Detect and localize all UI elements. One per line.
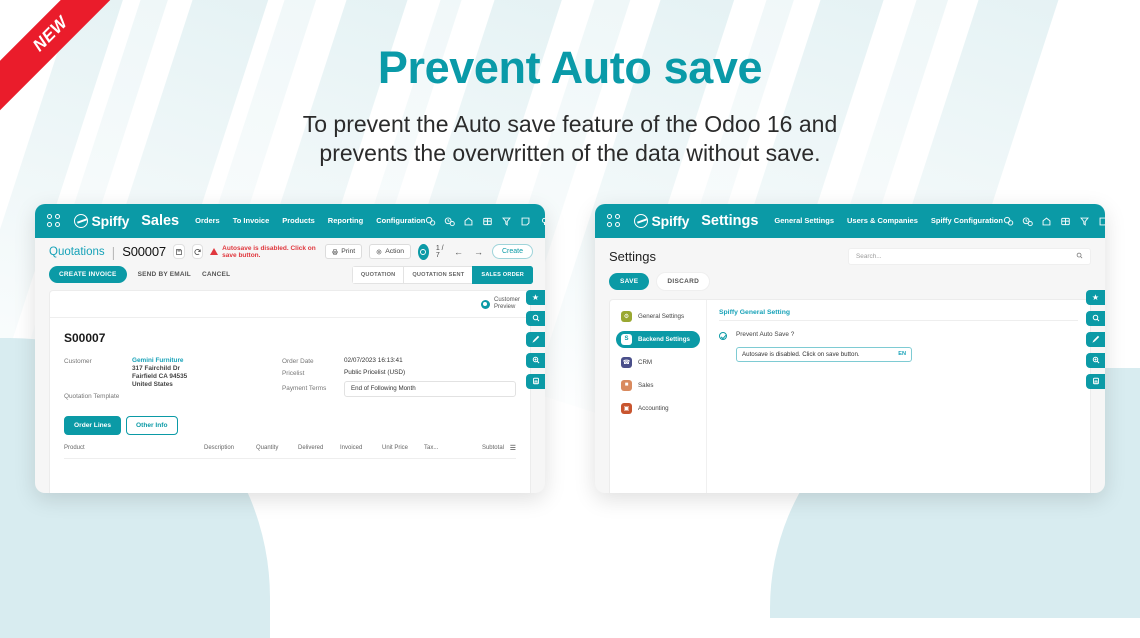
customer-preview-button[interactable]: Customer Preview xyxy=(481,297,520,312)
customer-preview-label-1: Customer xyxy=(494,297,520,303)
field-order-date-label: Order Date xyxy=(282,357,344,365)
sheet-record-title: S00007 xyxy=(64,331,516,345)
sales-icon: ■ xyxy=(621,380,632,391)
column-delivered: Delivered xyxy=(298,445,340,451)
column-invoiced: Invoiced xyxy=(340,445,382,451)
customer-preview-icon xyxy=(481,300,490,309)
apps-grid-icon[interactable] xyxy=(607,214,620,227)
sidebar-label-crm: CRM xyxy=(638,359,652,366)
payment-terms-input[interactable]: End of Following Month xyxy=(344,381,516,397)
brand-logo[interactable]: Spiffy xyxy=(74,213,130,229)
record-status-icon[interactable] xyxy=(418,244,429,260)
discard-icon[interactable] xyxy=(192,244,204,259)
settings-actions: SAVE DISCARD xyxy=(609,272,1091,291)
sheet-tabs: Order Lines Other Info xyxy=(64,416,516,435)
cancel-button[interactable]: CANCEL xyxy=(202,271,230,278)
sheet-left-column: Customer Gemini Furniture 317 Fairchild … xyxy=(64,357,282,404)
record-name: S00007 xyxy=(122,244,166,259)
sidebar-label-general-settings: General Settings xyxy=(638,313,684,320)
settings-title: Settings xyxy=(609,249,656,264)
field-pricelist-label: Pricelist xyxy=(282,369,344,377)
accounting-icon: ▣ xyxy=(621,403,632,414)
pin-icon[interactable] xyxy=(1041,216,1052,226)
create-button[interactable]: Create xyxy=(492,244,533,259)
field-pricelist-value[interactable]: Public Pricelist (USD) xyxy=(344,369,405,377)
sales-status-row: CREATE INVOICE SEND BY EMAIL CANCEL QUOT… xyxy=(35,264,545,290)
field-order-date-value[interactable]: 02/07/2023 16:13:41 xyxy=(344,357,403,365)
megaphone-icon[interactable] xyxy=(501,216,512,226)
search-icon[interactable] xyxy=(526,311,545,326)
field-customer-value[interactable]: Gemini Furniture 317 Fairchild Dr Fairfi… xyxy=(132,357,187,388)
menu-item-to-invoice[interactable]: To Invoice xyxy=(233,216,270,225)
sales-sheet-wrap: Customer Preview S00007 Customer Gemini … xyxy=(35,290,545,493)
tab-other-info[interactable]: Other Info xyxy=(126,416,178,435)
column-subtotal: Subtotal xyxy=(462,445,504,451)
settings-navbar-icons xyxy=(1003,213,1105,229)
sales-navbar: Spiffy Sales Orders To Invoice Products … xyxy=(35,204,545,238)
edit-pencil-icon[interactable] xyxy=(526,332,545,347)
apps-grid-icon[interactable] xyxy=(47,214,60,227)
bookmark-icon[interactable] xyxy=(1086,374,1105,389)
section-rule xyxy=(719,320,1078,321)
settings-panel: ⚙ General Settings S Backend Settings ☎ … xyxy=(609,299,1091,493)
sidebar-label-sales: Sales xyxy=(638,382,653,389)
breadcrumb[interactable]: Quotations xyxy=(49,246,105,258)
column-unit-price: Unit Price xyxy=(382,445,424,451)
stage-quotation[interactable]: QUOTATION xyxy=(352,266,404,284)
tab-order-lines[interactable]: Order Lines xyxy=(64,416,121,435)
sidebar-item-sales[interactable]: ■ Sales xyxy=(616,377,700,394)
settings-main: Spiffy General Setting Prevent Auto Save… xyxy=(707,300,1090,493)
edit-pencil-icon[interactable] xyxy=(1086,332,1105,347)
app-name: Settings xyxy=(701,213,758,229)
zoom-icon[interactable] xyxy=(1086,353,1105,368)
subtitle-line-2: prevents the overwritten of the data wit… xyxy=(0,139,1140,168)
sidebar-label-accounting: Accounting xyxy=(638,405,669,412)
sidebar-item-backend-settings[interactable]: S Backend Settings xyxy=(616,331,700,348)
field-pricelist: Pricelist Public Pricelist (USD) xyxy=(282,369,516,377)
sheet-divider xyxy=(50,317,530,318)
settings-navbar: Spiffy Settings General Settings Users &… xyxy=(595,204,1105,238)
menu-item-users-companies[interactable]: Users & Companies xyxy=(847,216,918,225)
spiffy-logo-icon xyxy=(74,214,88,228)
save-button[interactable]: SAVE xyxy=(609,273,649,290)
autosave-message-input[interactable]: Autosave is disabled. Click on save butt… xyxy=(736,347,912,362)
field-quotation-template: Quotation Template xyxy=(64,392,282,400)
sales-control-bar: Quotations | S00007 Autosave is disabled… xyxy=(35,238,545,264)
menu-item-configuration[interactable]: Configuration xyxy=(376,216,425,225)
prevent-auto-save-option: Prevent Auto Save ? xyxy=(719,331,1078,340)
prevent-auto-save-checkbox[interactable] xyxy=(719,332,727,340)
sales-side-toolbar: ★ xyxy=(526,290,545,389)
autosave-message-value: Autosave is disabled. Click on save butt… xyxy=(742,351,860,358)
stage-quotation-sent[interactable]: QUOTATION SENT xyxy=(403,266,472,284)
sidebar-item-general-settings[interactable]: ⚙ General Settings xyxy=(616,308,700,325)
stage-sales-order[interactable]: SALES ORDER xyxy=(472,266,533,284)
subtitle-line-1: To prevent the Auto save feature of the … xyxy=(0,110,1140,139)
section-title: Spiffy General Setting xyxy=(719,309,1078,320)
messaging-icon[interactable] xyxy=(1003,216,1014,226)
new-ribbon: NEW xyxy=(0,0,120,120)
sales-navbar-icons xyxy=(425,213,545,229)
field-payment-terms: Payment Terms End of Following Month xyxy=(282,381,516,397)
sales-sheet: Customer Preview S00007 Customer Gemini … xyxy=(49,290,531,493)
location-icon[interactable] xyxy=(539,216,545,226)
sales-menu-list: Orders To Invoice Products Reporting Con… xyxy=(195,216,425,225)
sidebar-label-backend-settings: Backend Settings xyxy=(638,336,690,343)
zoom-icon[interactable] xyxy=(526,353,545,368)
stage-statusbar: QUOTATION QUOTATION SENT SALES ORDER xyxy=(352,266,533,284)
sheet-fields: Customer Gemini Furniture 317 Fairchild … xyxy=(64,357,516,404)
sheet-right-column: Order Date 02/07/2023 16:13:41 Pricelist… xyxy=(282,357,516,404)
field-payment-terms-label: Payment Terms xyxy=(282,381,344,392)
field-customer-label: Customer xyxy=(64,357,132,388)
language-badge[interactable]: EN xyxy=(898,351,906,357)
settings-app-screenshot: Spiffy Settings General Settings Users &… xyxy=(595,204,1105,493)
settings-side-toolbar: ★ xyxy=(1086,290,1105,389)
settings-body: Settings Search... SAVE DISCARD ⚙ Genera… xyxy=(595,238,1105,493)
menu-item-products[interactable]: Products xyxy=(282,216,315,225)
column-product: Product xyxy=(64,445,204,451)
page-subtitle: To prevent the Auto save feature of the … xyxy=(0,110,1140,168)
column-taxes: Tax... xyxy=(424,445,462,451)
autosave-warning-text: Autosave is disabled. Click on save butt… xyxy=(222,245,318,259)
column-description: Description xyxy=(204,445,256,451)
prevent-auto-save-label: Prevent Auto Save ? xyxy=(736,331,794,338)
pager-count: 1 / 7 xyxy=(436,245,445,259)
settings-menu-list: General Settings Users & Companies Spiff… xyxy=(774,216,1003,225)
customer-address-line-1: 317 Fairchild Dr xyxy=(132,365,187,372)
activity-icon[interactable] xyxy=(444,216,455,226)
save-icon[interactable] xyxy=(173,244,185,259)
brand-name: Spiffy xyxy=(652,213,690,229)
menu-item-general-settings[interactable]: General Settings xyxy=(774,216,834,225)
breadcrumb-separator: | xyxy=(112,244,116,260)
grid-icon[interactable] xyxy=(482,216,493,226)
spiffy-icon: S xyxy=(621,334,632,345)
new-ribbon-label: NEW xyxy=(0,0,120,114)
customer-address-line-3: United States xyxy=(132,381,187,388)
column-options-icon[interactable]: ☰ xyxy=(504,444,516,452)
search-icon[interactable] xyxy=(1086,311,1105,326)
menu-item-reporting[interactable]: Reporting xyxy=(328,216,363,225)
settings-sidebar: ⚙ General Settings S Backend Settings ☎ … xyxy=(610,300,707,493)
hero-section: Prevent Auto save To prevent the Auto sa… xyxy=(0,0,1140,168)
print-label: Print xyxy=(341,248,355,255)
search-placeholder: Search... xyxy=(856,253,882,260)
activity-icon[interactable] xyxy=(1022,216,1033,226)
pager-next-button[interactable]: → xyxy=(472,247,485,257)
note-icon[interactable] xyxy=(520,216,531,226)
action-button[interactable]: Action xyxy=(369,244,411,259)
field-quotation-template-label: Quotation Template xyxy=(64,392,119,400)
search-input[interactable]: Search... xyxy=(848,248,1091,265)
search-icon[interactable] xyxy=(1076,252,1083,261)
discard-button[interactable]: DISCARD xyxy=(656,272,710,291)
menu-item-orders[interactable]: Orders xyxy=(195,216,220,225)
megaphone-icon[interactable] xyxy=(1079,216,1090,226)
create-invoice-button[interactable]: CREATE INVOICE xyxy=(49,266,127,283)
sales-app-screenshot: Spiffy Sales Orders To Invoice Products … xyxy=(35,204,545,493)
pin-icon[interactable] xyxy=(463,216,474,226)
customer-preview-label-2: Preview xyxy=(494,304,515,310)
send-by-email-button[interactable]: SEND BY EMAIL xyxy=(138,271,191,278)
screenshot-row: Spiffy Sales Orders To Invoice Products … xyxy=(0,204,1140,493)
warning-triangle-icon xyxy=(210,248,218,255)
star-icon[interactable]: ★ xyxy=(1086,290,1105,305)
app-name: Sales xyxy=(141,213,179,229)
menu-item-spiffy-configuration[interactable]: Spiffy Configuration xyxy=(931,216,1003,225)
field-order-date: Order Date 02/07/2023 16:13:41 xyxy=(282,357,516,365)
sidebar-item-accounting[interactable]: ▣ Accounting xyxy=(616,400,700,417)
brand-name: Spiffy xyxy=(92,213,130,229)
order-lines-table-header: Product Description Quantity Delivered I… xyxy=(64,444,516,459)
note-icon[interactable] xyxy=(1098,216,1105,226)
customer-name: Gemini Furniture xyxy=(132,357,183,364)
gear-icon: ⚙ xyxy=(621,311,632,322)
autosave-warning: Autosave is disabled. Click on save butt… xyxy=(210,245,318,259)
field-customer: Customer Gemini Furniture 317 Fairchild … xyxy=(64,357,282,388)
print-button[interactable]: Print xyxy=(325,244,362,259)
column-quantity: Quantity xyxy=(256,445,298,451)
page-title: Prevent Auto save xyxy=(0,42,1140,94)
action-label: Action xyxy=(385,248,404,255)
customer-address-line-2: Fairfield CA 94535 xyxy=(132,373,187,380)
control-bar-right: Print Action 1 / 7 ← → Create xyxy=(325,244,533,260)
pager-previous-button[interactable]: ← xyxy=(452,247,465,257)
spiffy-logo-icon xyxy=(634,214,648,228)
settings-header-row: Settings Search... xyxy=(609,248,1091,265)
sidebar-item-crm[interactable]: ☎ CRM xyxy=(616,354,700,371)
messaging-icon[interactable] xyxy=(425,216,436,226)
brand-logo[interactable]: Spiffy xyxy=(634,213,690,229)
grid-icon[interactable] xyxy=(1060,216,1071,226)
star-icon[interactable]: ★ xyxy=(526,290,545,305)
crm-icon: ☎ xyxy=(621,357,632,368)
bookmark-icon[interactable] xyxy=(526,374,545,389)
